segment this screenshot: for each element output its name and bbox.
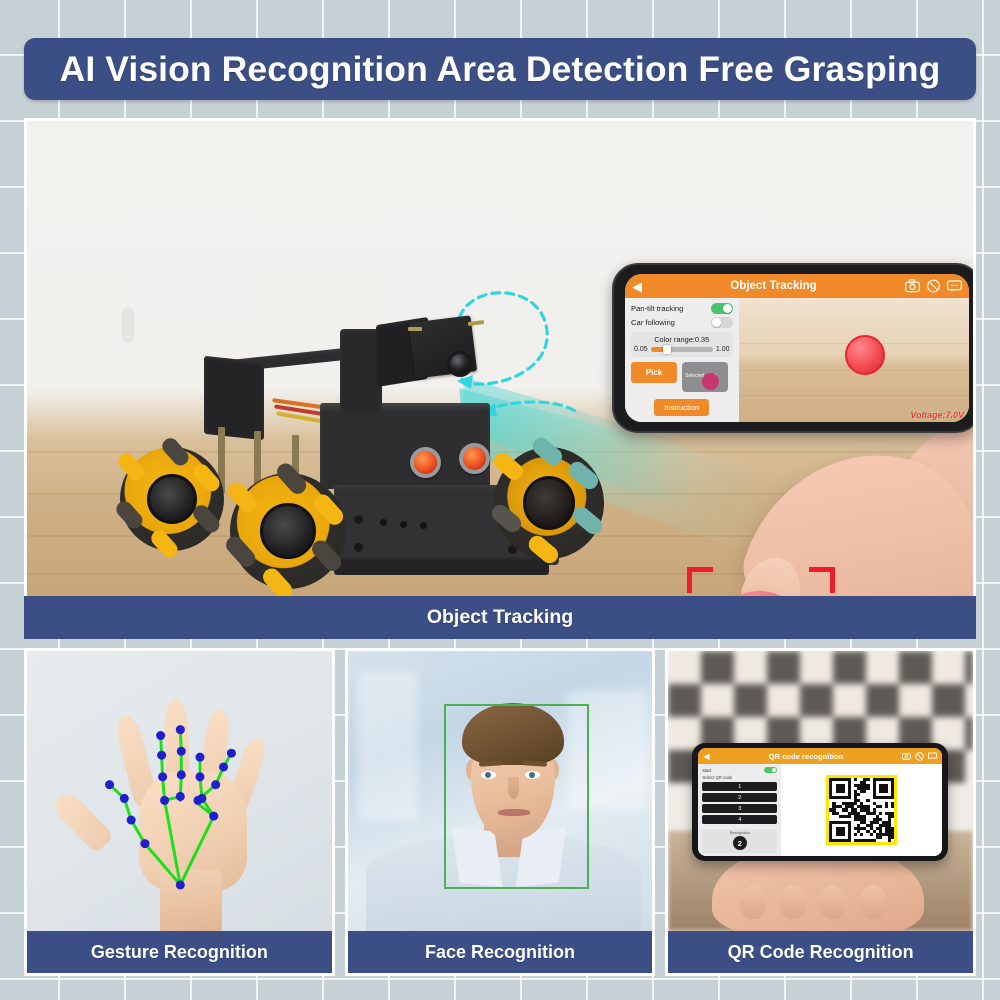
pan-tilt-tracking-toggle[interactable] [711, 303, 733, 314]
ultrasonic-sensor-left [410, 447, 441, 478]
back-arrow-icon[interactable]: ◀ [632, 280, 642, 293]
qr-result-label: Recognition [702, 831, 777, 835]
face-caption-bar: Face Recognition [348, 931, 653, 973]
pick-button[interactable]: Pick [631, 362, 677, 383]
qr-close-circle-icon[interactable] [915, 752, 924, 761]
qr-result-value: 2 [733, 836, 747, 850]
qr-toggle-label: start [702, 768, 711, 773]
close-circle-icon[interactable] [926, 279, 941, 293]
swatch-color-dot [702, 373, 719, 390]
slider-max-label: 1.00 [716, 346, 730, 353]
qr-result-box: Recognition 2 [702, 829, 777, 853]
qr-back-arrow-icon[interactable]: ◀ [703, 752, 709, 761]
mecanum-wheel-front-right [230, 473, 346, 589]
qr-caption-bar: QR Code Recognition [668, 931, 973, 973]
slider-min-label: 0.05 [634, 346, 648, 353]
phone-app-title: Object Tracking [648, 280, 899, 292]
qr-start-row[interactable]: start [702, 767, 777, 773]
mecanum-wheel-front-left [120, 447, 224, 551]
qr-start-toggle[interactable] [764, 767, 777, 773]
hand-skeleton-overlay [27, 651, 332, 931]
qr-number-1[interactable]: 1 [702, 782, 777, 791]
qr-media: ◀ QR code recognition [668, 651, 973, 931]
hero-caption-bar: Object Tracking [24, 596, 976, 639]
page-title-banner: AI Vision Recognition Area Detection Fre… [24, 38, 976, 100]
face-caption-text: Face Recognition [425, 942, 575, 963]
car-following-label: Car following [631, 318, 675, 327]
camera-lens [447, 351, 473, 377]
qr-list-label: Select QR code [702, 775, 777, 780]
qr-app-title: QR code recognition [714, 752, 899, 761]
color-range-label: Color range:0.35 [634, 335, 730, 344]
qr-code-image [829, 778, 894, 843]
gesture-caption-text: Gesture Recognition [91, 942, 268, 963]
hero-scene-photo: ◀ Object Tracking [27, 121, 973, 636]
feature-cards: Gesture Recognition Face Recognition [24, 648, 976, 976]
instruction-button[interactable]: Instruction [654, 399, 709, 416]
camera-feed-view: Voltage:7.0V [739, 298, 969, 422]
face-media [348, 651, 653, 931]
robot-car [122, 307, 592, 607]
voltage-overlay: Voltage:7.0V [910, 410, 964, 420]
pan-tilt-tracking-row[interactable]: Pan-tilt tracking [631, 303, 733, 314]
card-face-recognition: Face Recognition [345, 648, 656, 976]
card-gesture-recognition: Gesture Recognition [24, 648, 335, 976]
card-qr-recognition: ◀ QR code recognition [665, 648, 976, 976]
hero-card: ◀ Object Tracking [24, 118, 976, 639]
qr-camera-icon[interactable] [902, 752, 911, 760]
qr-number-2[interactable]: 2 [702, 793, 777, 802]
qr-scan-view [781, 764, 942, 856]
phone-app-bar: ◀ Object Tracking [625, 274, 969, 298]
color-range-slider[interactable] [651, 347, 713, 352]
qr-message-icon[interactable] [928, 752, 937, 760]
car-following-toggle[interactable] [711, 317, 733, 328]
qr-number-4[interactable]: 4 [702, 815, 777, 824]
qr-app-bar: ◀ QR code recognition [698, 748, 942, 764]
selected-color-swatch[interactable]: Selected color [682, 362, 728, 392]
qr-number-list: 1 2 3 4 [702, 782, 777, 824]
gesture-caption-bar: Gesture Recognition [27, 931, 332, 973]
gesture-media [27, 651, 332, 931]
feed-detected-ball [845, 335, 885, 375]
qr-number-3[interactable]: 3 [702, 804, 777, 813]
tracking-control-panel: Pan-tilt tracking Car following Color ra… [625, 298, 739, 422]
color-range-slider-group: Color range:0.35 0.05 1.00 [631, 332, 733, 357]
page-title: AI Vision Recognition Area Detection Fre… [60, 49, 941, 90]
qr-control-panel: start Select QR code 1 2 3 4 [698, 764, 781, 856]
qr-highlight-frame [826, 775, 897, 846]
message-icon[interactable] [947, 279, 962, 293]
hero-caption-text: Object Tracking [427, 606, 573, 629]
car-following-row[interactable]: Car following [631, 317, 733, 328]
qr-recognition-phone: ◀ QR code recognition [692, 743, 948, 861]
qr-caption-text: QR Code Recognition [728, 942, 914, 963]
face-bounding-box [444, 704, 589, 889]
pan-tilt-tracking-label: Pan-tilt tracking [631, 304, 683, 313]
ultrasonic-sensor-right [459, 443, 490, 474]
mecanum-wheel-rear-right [494, 447, 604, 559]
camera-icon[interactable] [905, 279, 920, 293]
object-tracking-phone: ◀ Object Tracking [612, 263, 976, 433]
